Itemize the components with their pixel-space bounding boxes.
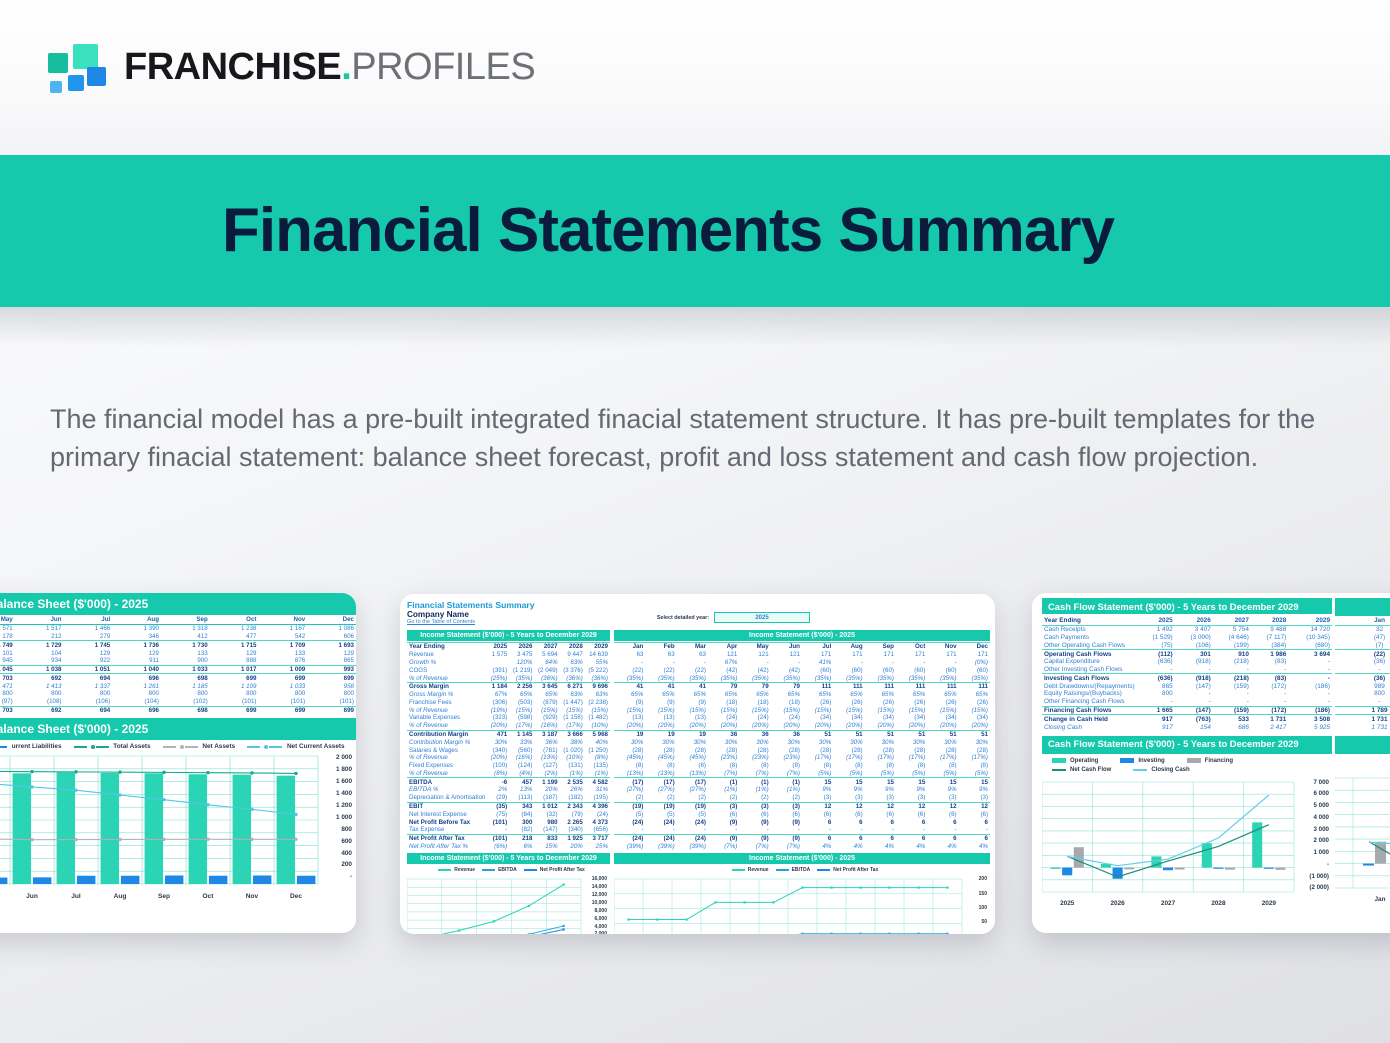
table-cell: 703 bbox=[0, 674, 15, 682]
table-cell: (7%) bbox=[739, 843, 770, 851]
y-tick: 600 bbox=[320, 838, 352, 845]
table-cell: 12 bbox=[865, 802, 896, 810]
table-cell: 6 271 bbox=[560, 682, 585, 690]
logo-squares-icon bbox=[48, 42, 110, 92]
table-cell: 51 bbox=[896, 730, 927, 738]
table-row: (35%)(35%)(35%)(35%)(35%)(35%)(35%)(35%)… bbox=[614, 674, 990, 682]
table-cell: (8) bbox=[771, 762, 802, 770]
table-cell: (26) bbox=[896, 698, 927, 706]
balance-sheet-chart[interactable]: 2 0001 8001 6001 4001 2001 0008006004002… bbox=[0, 752, 356, 902]
table-cell: 800 bbox=[15, 690, 64, 698]
table-row: 703692694696698699699699 bbox=[0, 674, 356, 682]
table-cell: (35%) bbox=[833, 674, 864, 682]
table-cell: 343 bbox=[509, 802, 534, 810]
table-row: Financing Cash Flows1 665(147)(159)(172)… bbox=[1042, 706, 1332, 715]
table-cell: 36% bbox=[534, 738, 559, 746]
table-cell: (9) bbox=[771, 834, 802, 842]
table-cell: 32 bbox=[1335, 625, 1390, 633]
income-2025-table: JanFebMarAprMayJunJulAugSepOctNovDec6363… bbox=[614, 642, 990, 850]
table-cell: (218) bbox=[1213, 658, 1251, 666]
table-cell: (34) bbox=[959, 714, 990, 722]
y-tick: 6 000 bbox=[1294, 790, 1329, 797]
table-cell: (20%) bbox=[614, 722, 645, 730]
table-cell: - bbox=[1251, 690, 1288, 698]
table-cell: 64% bbox=[534, 659, 559, 667]
table-row: (15%)(15%)(15%)(15%)(15%)(15%)(15%)(15%)… bbox=[614, 706, 990, 714]
table-cell: 833 bbox=[534, 834, 559, 842]
table-cell: 67% bbox=[708, 659, 739, 667]
table-cell: (2%) bbox=[534, 770, 559, 778]
table-cell: 15 bbox=[927, 778, 958, 786]
table-cell: (218) bbox=[1213, 674, 1251, 682]
table-cell: 6 bbox=[927, 834, 958, 842]
table-cell: 171 bbox=[896, 651, 927, 659]
table-cell: (45%) bbox=[614, 754, 645, 762]
row-label: Financing Cash Flows bbox=[1042, 706, 1137, 715]
table-cell: 6 bbox=[833, 818, 864, 826]
table-cell: (36%) bbox=[534, 674, 559, 682]
balance-sheet-table: MayJunJulAugSepOctNovDec 1 5711 5171 466… bbox=[0, 616, 356, 714]
legend-label: Net Cash Flow bbox=[1070, 767, 1111, 773]
table-cell: 1 040 bbox=[112, 665, 161, 674]
table-cell: 9 696 bbox=[585, 682, 610, 690]
table-cell: 65% bbox=[645, 691, 676, 699]
table-cell: - bbox=[739, 659, 770, 667]
y-tick: 1 600 bbox=[320, 778, 352, 785]
table-cell: (18) bbox=[708, 698, 739, 706]
table-cell: 699 bbox=[210, 674, 259, 682]
cash-flow-side-x-axis: Jan bbox=[1335, 896, 1390, 903]
table-cell: (97) bbox=[0, 698, 15, 706]
table-cell: (1%) bbox=[771, 786, 802, 794]
table-cell: 6 bbox=[865, 818, 896, 826]
table-cell: (159) bbox=[1213, 682, 1251, 690]
table-row: (7) bbox=[1335, 641, 1390, 649]
table-cell: (763) bbox=[1175, 715, 1213, 723]
table-cell: 457 bbox=[509, 778, 534, 786]
table-cell: 6 bbox=[802, 818, 833, 826]
legend-item: Revenue bbox=[732, 867, 769, 873]
table-cell: 9% bbox=[865, 786, 896, 794]
table-cell: (1%) bbox=[708, 786, 739, 794]
table-cell: 1 729 bbox=[15, 641, 64, 649]
table-row: % of Revenue(25%)(35%)(36%)(36%)(36%) bbox=[407, 674, 610, 682]
cash-flow-side-chart-title bbox=[1335, 736, 1390, 754]
y-tick: - bbox=[1294, 861, 1329, 868]
bs-col-oct: Oct bbox=[210, 616, 259, 624]
table-cell: (8) bbox=[927, 762, 958, 770]
table-cell: (35%) bbox=[802, 674, 833, 682]
table-cell: (159) bbox=[1213, 706, 1251, 715]
table-cell: 1 051 bbox=[64, 665, 113, 674]
table-cell: 6% bbox=[509, 843, 534, 851]
table-cell: 1 261 bbox=[112, 682, 161, 690]
table-cell: 800 bbox=[1137, 690, 1175, 698]
x-tick: Oct bbox=[186, 893, 230, 900]
table-cell: 922 bbox=[64, 657, 113, 665]
table-row: (36) bbox=[1335, 674, 1390, 682]
table-cell: 910 bbox=[1213, 650, 1251, 658]
table-cell: (2 238) bbox=[585, 698, 610, 706]
table-cell: (17%) bbox=[927, 754, 958, 762]
balance-sheet-card[interactable]: Balance Sheet ($'000) - 2025 MayJunJulAu… bbox=[0, 593, 356, 933]
table-cell: (16%) bbox=[509, 754, 534, 762]
table-cell: 686 bbox=[1213, 723, 1251, 731]
table-cell: (1 529) bbox=[1137, 634, 1175, 642]
table-cell: 129 bbox=[64, 649, 113, 657]
table-cell: 1 925 bbox=[560, 834, 585, 842]
table-cell: - bbox=[833, 826, 864, 834]
row-label: % of Revenue bbox=[407, 754, 487, 762]
income-2025-chart[interactable]: 20015010050-(50) JanFebMarAprMayJunJulAu… bbox=[614, 875, 990, 934]
table-row: JanFebMarAprMayJunJulAugSepOctNovDec bbox=[614, 643, 990, 651]
table-cell: (34) bbox=[896, 714, 927, 722]
table-cell: 30% bbox=[645, 738, 676, 746]
table-cell: 30% bbox=[959, 738, 990, 746]
table-row: Net Profit Before Tax(101)3009802 2654 3… bbox=[407, 818, 610, 826]
table-cell: (3) bbox=[739, 802, 770, 810]
table-cell: 5 968 bbox=[585, 730, 610, 738]
y-tick: - bbox=[320, 873, 352, 880]
table-cell: 51 bbox=[865, 730, 896, 738]
brand-logo: FRANCHISE.PROFILES bbox=[48, 42, 535, 92]
table-cell: - bbox=[1175, 666, 1213, 674]
table-cell: 1 390 bbox=[112, 624, 161, 632]
table-cell: 12 bbox=[833, 802, 864, 810]
table-cell: - bbox=[771, 659, 802, 667]
table-row: 945934922911900888876865 bbox=[0, 657, 356, 665]
table-cell: 3 645 bbox=[534, 682, 559, 690]
table-cell: 2 417 bbox=[1251, 723, 1288, 731]
table-cell: 65% bbox=[959, 691, 990, 699]
table-cell: 30% bbox=[833, 738, 864, 746]
table-cell: (1 250) bbox=[585, 746, 610, 754]
table-cell: 3 717 bbox=[585, 834, 610, 842]
table-cell: 1 731 bbox=[1251, 715, 1288, 723]
row-label: % of Revenue bbox=[407, 706, 487, 714]
table-cell: (39%) bbox=[645, 843, 676, 851]
table-row: Contribution Margin4711 1453 1873 6665 9… bbox=[407, 730, 610, 738]
table-cell: (9) bbox=[645, 698, 676, 706]
table-cell: (340) bbox=[487, 746, 509, 754]
table-cell: - bbox=[1213, 698, 1251, 706]
row-label: Growth % bbox=[407, 659, 487, 667]
table-cell: (13%) bbox=[614, 770, 645, 778]
table-cell: 15 bbox=[959, 778, 990, 786]
y-tick: 1 000 bbox=[320, 814, 352, 821]
table-cell: 38% bbox=[560, 738, 585, 746]
table-cell: (560) bbox=[509, 746, 534, 754]
table-cell: (13%) bbox=[677, 770, 708, 778]
table-cell: (9) bbox=[739, 834, 770, 842]
table-cell: 980 bbox=[534, 818, 559, 826]
center-card-heading-group: Financial Statements Summary Company Nam… bbox=[407, 600, 535, 625]
table-cell: (1) bbox=[771, 778, 802, 786]
table-cell: 15 bbox=[865, 778, 896, 786]
row-label: Net Profit After Tax bbox=[407, 834, 487, 842]
legend-label: EBITDA bbox=[498, 867, 517, 873]
table-cell: (4 646) bbox=[1213, 634, 1251, 642]
cash-flow-card[interactable]: Cash Flow Statement ($'000) - 5 Years to… bbox=[1032, 593, 1390, 933]
table-cell: 41 bbox=[645, 682, 676, 690]
table-cell: 30% bbox=[927, 738, 958, 746]
table-cell: (5) bbox=[614, 810, 645, 818]
cash-flow-side-chart[interactable]: Jan bbox=[1335, 774, 1390, 904]
table-cell: 698 bbox=[161, 706, 210, 714]
y-tick: (1 000) bbox=[1294, 873, 1329, 880]
table-cell: (5%) bbox=[802, 770, 833, 778]
cf-col-2025: 2025 bbox=[1137, 617, 1175, 625]
table-row: Net Interest Expense(75)(84)(32)(79)(24) bbox=[407, 810, 610, 818]
income-5yr-chart-legend: RevenueEBITDANet Profit After Tax bbox=[407, 864, 610, 875]
table-cell: 800 bbox=[64, 690, 113, 698]
row-label: Year Ending bbox=[1042, 617, 1137, 625]
table-cell: 171 bbox=[927, 651, 958, 659]
table-cell: - bbox=[1175, 698, 1213, 706]
table-cell: (147) bbox=[1175, 706, 1213, 715]
table-cell: 63 bbox=[645, 651, 676, 659]
table-row: 414141797979111111111111111111 bbox=[614, 682, 990, 690]
table-cell: (5) bbox=[645, 810, 676, 818]
table-cell: 1 736 bbox=[112, 641, 161, 649]
table-cell: (6) bbox=[927, 810, 958, 818]
table-cell: - bbox=[865, 659, 896, 667]
table-cell: (16%) bbox=[534, 722, 559, 730]
table-cell: (35%) bbox=[739, 674, 770, 682]
table-row: 1 731 bbox=[1335, 723, 1390, 731]
table-of-contents-link[interactable]: Go to the Table of Contents bbox=[407, 619, 535, 625]
table-cell: (127) bbox=[534, 762, 559, 770]
x-tick: 2026 bbox=[1092, 900, 1142, 907]
table-cell: - bbox=[1288, 666, 1332, 674]
table-cell: 9% bbox=[927, 786, 958, 794]
y-tick: 1 000 bbox=[1294, 849, 1329, 856]
table-cell: 12 bbox=[802, 802, 833, 810]
table-row: % of Revenue(20%)(17%)(16%)(17%)(10%) bbox=[407, 722, 610, 730]
table-cell: (15%) bbox=[585, 706, 610, 714]
table-cell: 1 745 bbox=[64, 641, 113, 649]
table-row: (45%)(45%)(45%)(23%)(23%)(23%)(17%)(17%)… bbox=[614, 754, 990, 762]
table-cell: - bbox=[833, 659, 864, 667]
table-row: Growth %120%64%63%55% bbox=[407, 659, 610, 667]
table-cell: 111 bbox=[927, 682, 958, 690]
table-cell: (15%) bbox=[677, 706, 708, 714]
table-cell: (20%) bbox=[677, 722, 708, 730]
balance-sheet-x-axis: MayJunJulAugSepOctNovDec bbox=[0, 893, 318, 900]
table-cell: (7%) bbox=[708, 770, 739, 778]
table-cell: (45%) bbox=[677, 754, 708, 762]
table-cell: (5%) bbox=[865, 770, 896, 778]
table-cell: 800 bbox=[307, 690, 356, 698]
income-2025-table-title: Income Statement ($'000) - 2025 bbox=[614, 630, 990, 641]
row-label: Variable Expenses bbox=[407, 714, 487, 722]
table-cell: 30% bbox=[708, 738, 739, 746]
legend-item: urrent Liabilities bbox=[0, 743, 62, 750]
y-tick: 12,000 bbox=[580, 892, 607, 898]
table-cell: 3 407 bbox=[1175, 625, 1213, 633]
table-cell: 3 187 bbox=[534, 730, 559, 738]
table-cell: 6 bbox=[959, 834, 990, 842]
table-cell: (340) bbox=[560, 826, 585, 834]
table-cell: (172) bbox=[1251, 682, 1288, 690]
table-cell: 19 bbox=[645, 730, 676, 738]
table-cell: (47) bbox=[1335, 634, 1390, 642]
row-label: % of Revenue bbox=[407, 770, 487, 778]
table-cell: (6) bbox=[896, 810, 927, 818]
table-row: Tax Expense-(82)(147)(340)(656) bbox=[407, 826, 610, 834]
row-label: Change in Cash Held bbox=[1042, 715, 1137, 723]
table-cell: (17) bbox=[645, 778, 676, 786]
table-cell: - bbox=[802, 826, 833, 834]
table-cell: 121 bbox=[739, 651, 770, 659]
table-cell: (1%) bbox=[560, 770, 585, 778]
cash-flow-month-title bbox=[1335, 598, 1390, 616]
table-cell: 79 bbox=[708, 682, 739, 690]
table-cell: (24) bbox=[677, 834, 708, 842]
table-cell: 2% bbox=[487, 786, 509, 794]
table-cell: (3 000) bbox=[1175, 634, 1213, 642]
table-row: (28)(28)(28)(28)(28)(28)(28)(28)(28)(28)… bbox=[614, 746, 990, 754]
table-cell: 9% bbox=[896, 786, 927, 794]
table-cell: (35%) bbox=[614, 674, 645, 682]
table-cell: - bbox=[927, 826, 958, 834]
table-cell: (24) bbox=[614, 818, 645, 826]
table-cell: 1 715 bbox=[210, 641, 259, 649]
table-cell: 1 471 bbox=[0, 682, 15, 690]
cash-flow-chart[interactable]: 7 0006 0005 0004 0003 0002 0001 000-(1 0… bbox=[1042, 778, 1332, 908]
row-label: Depreciation & Amortisation bbox=[407, 794, 487, 802]
table-cell: (15%) bbox=[560, 706, 585, 714]
table-cell: 301 bbox=[1175, 650, 1213, 658]
table-cell: 51 bbox=[959, 730, 990, 738]
table-cell: (1) bbox=[739, 778, 770, 786]
table-cell: (60) bbox=[927, 666, 958, 674]
table-row: 703692694696698699699699 bbox=[0, 706, 356, 714]
table-cell: (7) bbox=[1335, 641, 1390, 649]
table-cell: 1 789 bbox=[1335, 706, 1390, 715]
table-cell: (34) bbox=[927, 714, 958, 722]
legend-label: Net Profit After Tax bbox=[540, 867, 585, 873]
table-cell: - bbox=[645, 659, 676, 667]
cash-flow-month-table: Jan32(47)(7)(22)(36)-(36)989800-1 7891 7… bbox=[1335, 617, 1390, 731]
table-cell: 65% bbox=[534, 691, 559, 699]
table-cell: (636) bbox=[1137, 658, 1175, 666]
table-cell: (27%) bbox=[614, 786, 645, 794]
table-row: (36) bbox=[1335, 658, 1390, 666]
legend-label: EBITDA bbox=[792, 867, 811, 873]
table-row: (2)(2)(2)(2)(2)(2)(3)(3)(3)(3)(3)(3) bbox=[614, 794, 990, 802]
table-cell: (19%) bbox=[487, 706, 509, 714]
table-cell: (60) bbox=[959, 666, 990, 674]
table-cell: 1 038 bbox=[15, 665, 64, 674]
table-cell: (0%) bbox=[959, 659, 990, 667]
table-row: Gross Margin %67%65%65%63%63% bbox=[407, 691, 610, 699]
cash-flow-x-axis: 20252026202720282029 bbox=[1042, 900, 1294, 907]
table-cell: (147) bbox=[534, 826, 559, 834]
table-cell: (9) bbox=[708, 818, 739, 826]
table-cell: - bbox=[739, 826, 770, 834]
table-cell: 4% bbox=[865, 843, 896, 851]
table-cell: (391) bbox=[487, 666, 509, 674]
legend-item: Net Assets bbox=[163, 743, 236, 750]
table-cell: 79 bbox=[771, 682, 802, 690]
table-cell: (17%) bbox=[833, 754, 864, 762]
table-cell: 30% bbox=[487, 738, 509, 746]
table-cell: (17%) bbox=[802, 754, 833, 762]
table-cell: (42) bbox=[771, 666, 802, 674]
table-cell: 6 bbox=[865, 834, 896, 842]
table-cell: 41 bbox=[677, 682, 708, 690]
table-row: % of Revenue(8%)(4%)(2%)(1%)(1%) bbox=[407, 770, 610, 778]
table-cell: 65% bbox=[509, 691, 534, 699]
table-cell: (24) bbox=[614, 834, 645, 842]
table-cell: 1 986 bbox=[1251, 650, 1288, 658]
table-cell: 12 bbox=[896, 802, 927, 810]
table-cell: 63% bbox=[560, 659, 585, 667]
table-cell: Jan bbox=[614, 643, 645, 651]
table-cell: - bbox=[614, 826, 645, 834]
cash-flow-table: Year Ending20252026202720282029Cash Rece… bbox=[1042, 617, 1332, 731]
table-cell: (28) bbox=[959, 746, 990, 754]
table-header-row: Jan bbox=[1335, 617, 1390, 625]
y-tick: 1 200 bbox=[320, 802, 352, 809]
income-5yr-table-title: Income Statement ($'000) - 5 Years to De… bbox=[407, 630, 610, 641]
table-cell: 4% bbox=[959, 843, 990, 851]
table-cell: 6 bbox=[896, 818, 927, 826]
page-title: Financial Statements Summary bbox=[222, 200, 1114, 262]
select-year-input[interactable]: 2025 bbox=[714, 612, 810, 623]
table-cell: (6) bbox=[802, 810, 833, 818]
table-cell: 111 bbox=[802, 682, 833, 690]
y-tick: 5 000 bbox=[1294, 802, 1329, 809]
income-5yr-chart-title: Income Statement ($'000) - 5 Years to De… bbox=[407, 853, 610, 864]
table-cell: Oct bbox=[896, 643, 927, 651]
y-tick: 8,000 bbox=[580, 908, 607, 914]
banner-shadow bbox=[0, 307, 1390, 347]
table-cell: 958 bbox=[307, 682, 356, 690]
table-cell: 1 731 bbox=[1335, 723, 1390, 731]
table-cell: 2025 bbox=[487, 643, 509, 651]
income-5yr-chart[interactable]: 16,00014,00012,00010,0008,0006,0004,0002… bbox=[407, 875, 610, 934]
table-cell: 51 bbox=[833, 730, 864, 738]
x-tick: 2028 bbox=[1193, 900, 1243, 907]
legend-row: OperatingInvestingFinancing bbox=[1052, 757, 1332, 766]
table-cell: (28) bbox=[865, 746, 896, 754]
table-cell: (1 219) bbox=[509, 666, 534, 674]
table-cell: 694 bbox=[64, 674, 113, 682]
table-cell: (13) bbox=[677, 714, 708, 722]
table-cell: 4% bbox=[833, 843, 864, 851]
row-label: Net Profit After Tax % bbox=[407, 843, 487, 851]
table-cell: (113) bbox=[509, 794, 534, 802]
row-label: Tax Expense bbox=[407, 826, 487, 834]
table-cell: (384) bbox=[1251, 641, 1288, 649]
legend-item: Total Assets bbox=[74, 743, 151, 750]
table-row: (22) bbox=[1335, 650, 1390, 658]
table-cell: - bbox=[896, 826, 927, 834]
x-tick: 2027 bbox=[1143, 900, 1193, 907]
row-label: Contribution Margin % bbox=[407, 738, 487, 746]
table-cell: 129 bbox=[112, 649, 161, 657]
table-row: Net Profit After Tax %(6%)6%15%20%25% bbox=[407, 843, 610, 851]
table-cell: (15%) bbox=[708, 706, 739, 714]
income-statement-card[interactable]: Financial Statements Summary Company Nam… bbox=[400, 594, 995, 934]
balance-sheet-chart-title: Balance Sheet ($'000) - 2025 bbox=[0, 718, 356, 740]
table-cell: (22) bbox=[614, 666, 645, 674]
table-cell: 25% bbox=[585, 843, 610, 851]
table-cell: 19 bbox=[677, 730, 708, 738]
cf-col-jan: Jan bbox=[1335, 617, 1390, 625]
